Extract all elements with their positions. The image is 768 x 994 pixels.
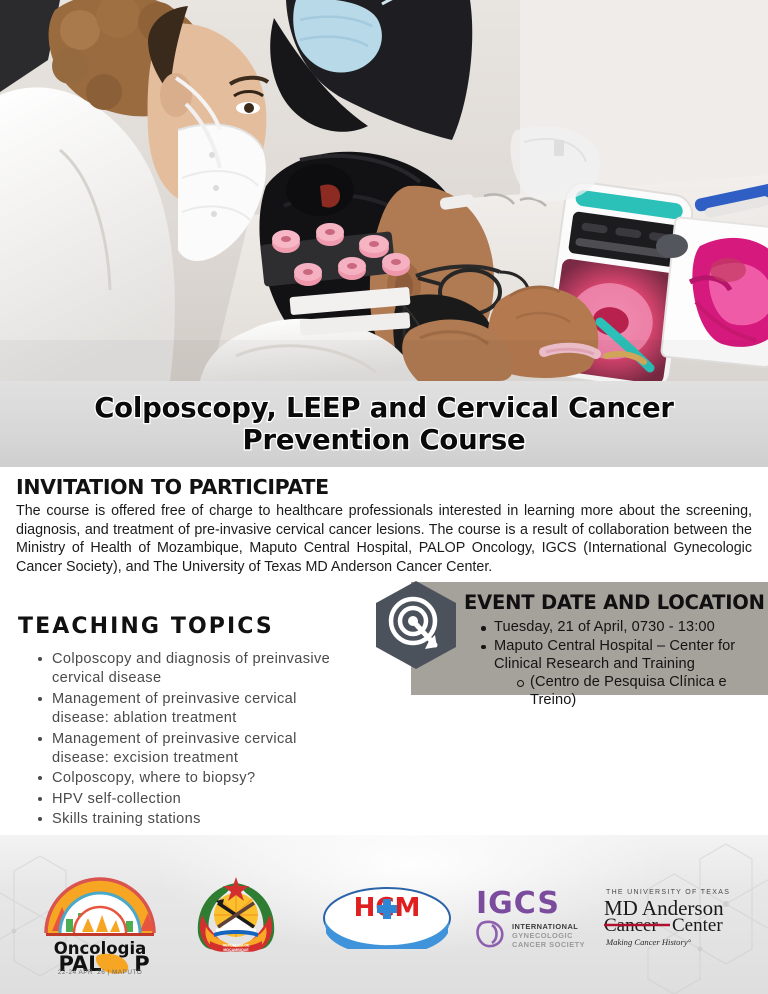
event-info-block: EVENT DATE AND LOCATION Tuesday, 21 of A… — [373, 582, 768, 697]
poster-page: Colposcopy, LEEP and Cervical Cancer Pre… — [0, 0, 768, 994]
hcm-caption: HOSPITAL CENTRAL DE MAPUTO — [342, 928, 432, 933]
igcs-line4: CANCER SOCIETY — [512, 940, 585, 949]
moz-line2: MOÇAMBIQUE — [223, 948, 249, 952]
mda-line1: THE UNIVERSITY OF TEXAS — [606, 889, 730, 896]
hcm-logo: HCM HOSPITAL CENTRAL DE MAPUTO — [322, 887, 452, 949]
mozambique-coat-of-arms-logo: REPÚBLICA DE MOÇAMBIQUE — [188, 875, 284, 955]
palop-caption: 22-24 APR '26 | MAPUTO — [40, 969, 160, 976]
event-location-text: Maputo Central Hospital – Center for Cli… — [494, 638, 735, 672]
list-item: Maputo Central Hospital – Center for Cli… — [480, 638, 760, 710]
footer-logo-bar: Oncologia PAL P 22-24 APR '26 | MAPUTO — [0, 835, 768, 994]
list-item: Colposcopy and diagnosis of preinvasive … — [38, 650, 348, 689]
event-heading: EVENT DATE AND LOCATION — [464, 591, 765, 614]
igcs-line2: INTERNATIONAL — [512, 922, 578, 931]
header-photo — [0, 0, 768, 381]
mda-caption: Making Cancer History° — [605, 937, 692, 947]
list-item: Tuesday, 21 of April, 0730 - 13:00 — [480, 619, 760, 637]
md-anderson-logo: THE UNIVERSITY OF TEXAS MD Anderson Canc… — [600, 883, 760, 949]
training-photo-illustration — [0, 0, 768, 381]
list-item: (Centro de Pesquisa Clínica e Treino) — [516, 674, 760, 710]
list-item: Management of preinvasive cervical disea… — [38, 690, 348, 729]
list-item: Skills training stations — [38, 810, 348, 829]
page-title: Colposcopy, LEEP and Cervical Cancer Pre… — [26, 392, 742, 456]
oncologia-palop-logo: Oncologia PAL P — [40, 863, 160, 975]
event-sublist: (Centro de Pesquisa Clínica e Treino) — [494, 674, 760, 710]
partner-logos: Oncologia PAL P 22-24 APR '26 | MAPUTO — [0, 835, 768, 994]
invitation-heading: INVITATION TO PARTICIPATE — [16, 475, 329, 499]
list-item: Management of preinvasive cervical disea… — [38, 730, 348, 769]
list-item: Colposcopy, where to biopsy? — [38, 769, 348, 788]
moz-line1: REPÚBLICA DE — [223, 943, 250, 948]
target-arrow-icon — [373, 579, 459, 671]
igcs-wordmark: IGCS — [476, 886, 560, 921]
poster-body: INVITATION TO PARTICIPATE The course is … — [0, 467, 768, 835]
list-item: HPV self-collection — [38, 790, 348, 809]
teaching-topics-heading: TEACHING TOPICS — [18, 614, 274, 639]
mda-line4: Center — [672, 915, 723, 936]
igcs-logo: IGCS INTERNATIONAL GYNECOLOGIC CANCER SO… — [468, 883, 596, 949]
invitation-paragraph: The course is offered free of charge to … — [16, 502, 752, 576]
event-details-list: Tuesday, 21 of April, 0730 - 13:00 Maput… — [480, 619, 760, 711]
teaching-topics-list: Colposcopy and diagnosis of preinvasive … — [38, 650, 348, 831]
igcs-line3: GYNECOLOGIC — [512, 931, 573, 940]
poster-title-banner: Colposcopy, LEEP and Cervical Cancer Pre… — [0, 381, 768, 467]
